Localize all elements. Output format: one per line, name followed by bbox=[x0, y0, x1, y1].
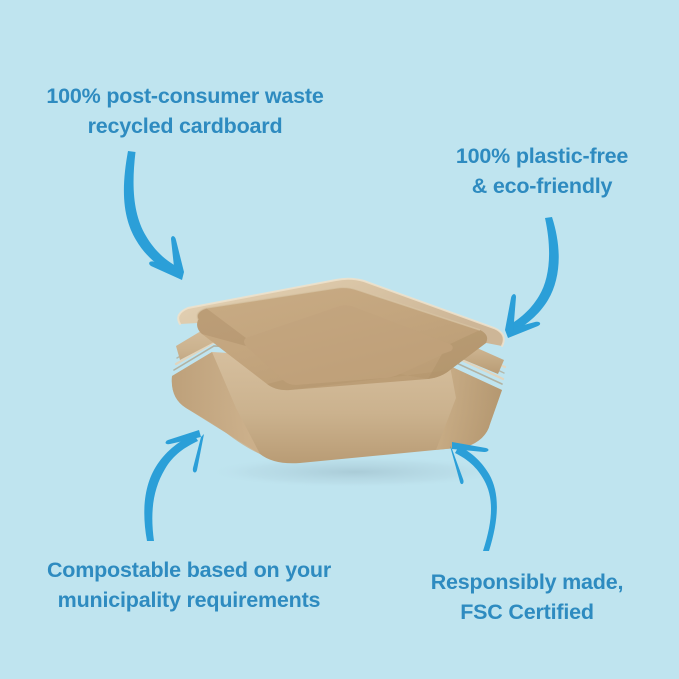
infographic-canvas: 100% post-consumer waste recycled cardbo… bbox=[0, 0, 679, 679]
paper-grain-texture bbox=[176, 278, 510, 468]
molded-fiber-tray-stack-illustration bbox=[150, 258, 550, 488]
callout-fsc-certified: Responsibly made, FSC Certified bbox=[399, 568, 655, 627]
callout-compostable: Compostable based on your municipality r… bbox=[16, 556, 362, 615]
callout-plastic-free: 100% plastic-free & eco-friendly bbox=[418, 142, 666, 201]
product-image bbox=[150, 258, 550, 488]
callout-post-consumer-waste: 100% post-consumer waste recycled cardbo… bbox=[14, 82, 356, 141]
